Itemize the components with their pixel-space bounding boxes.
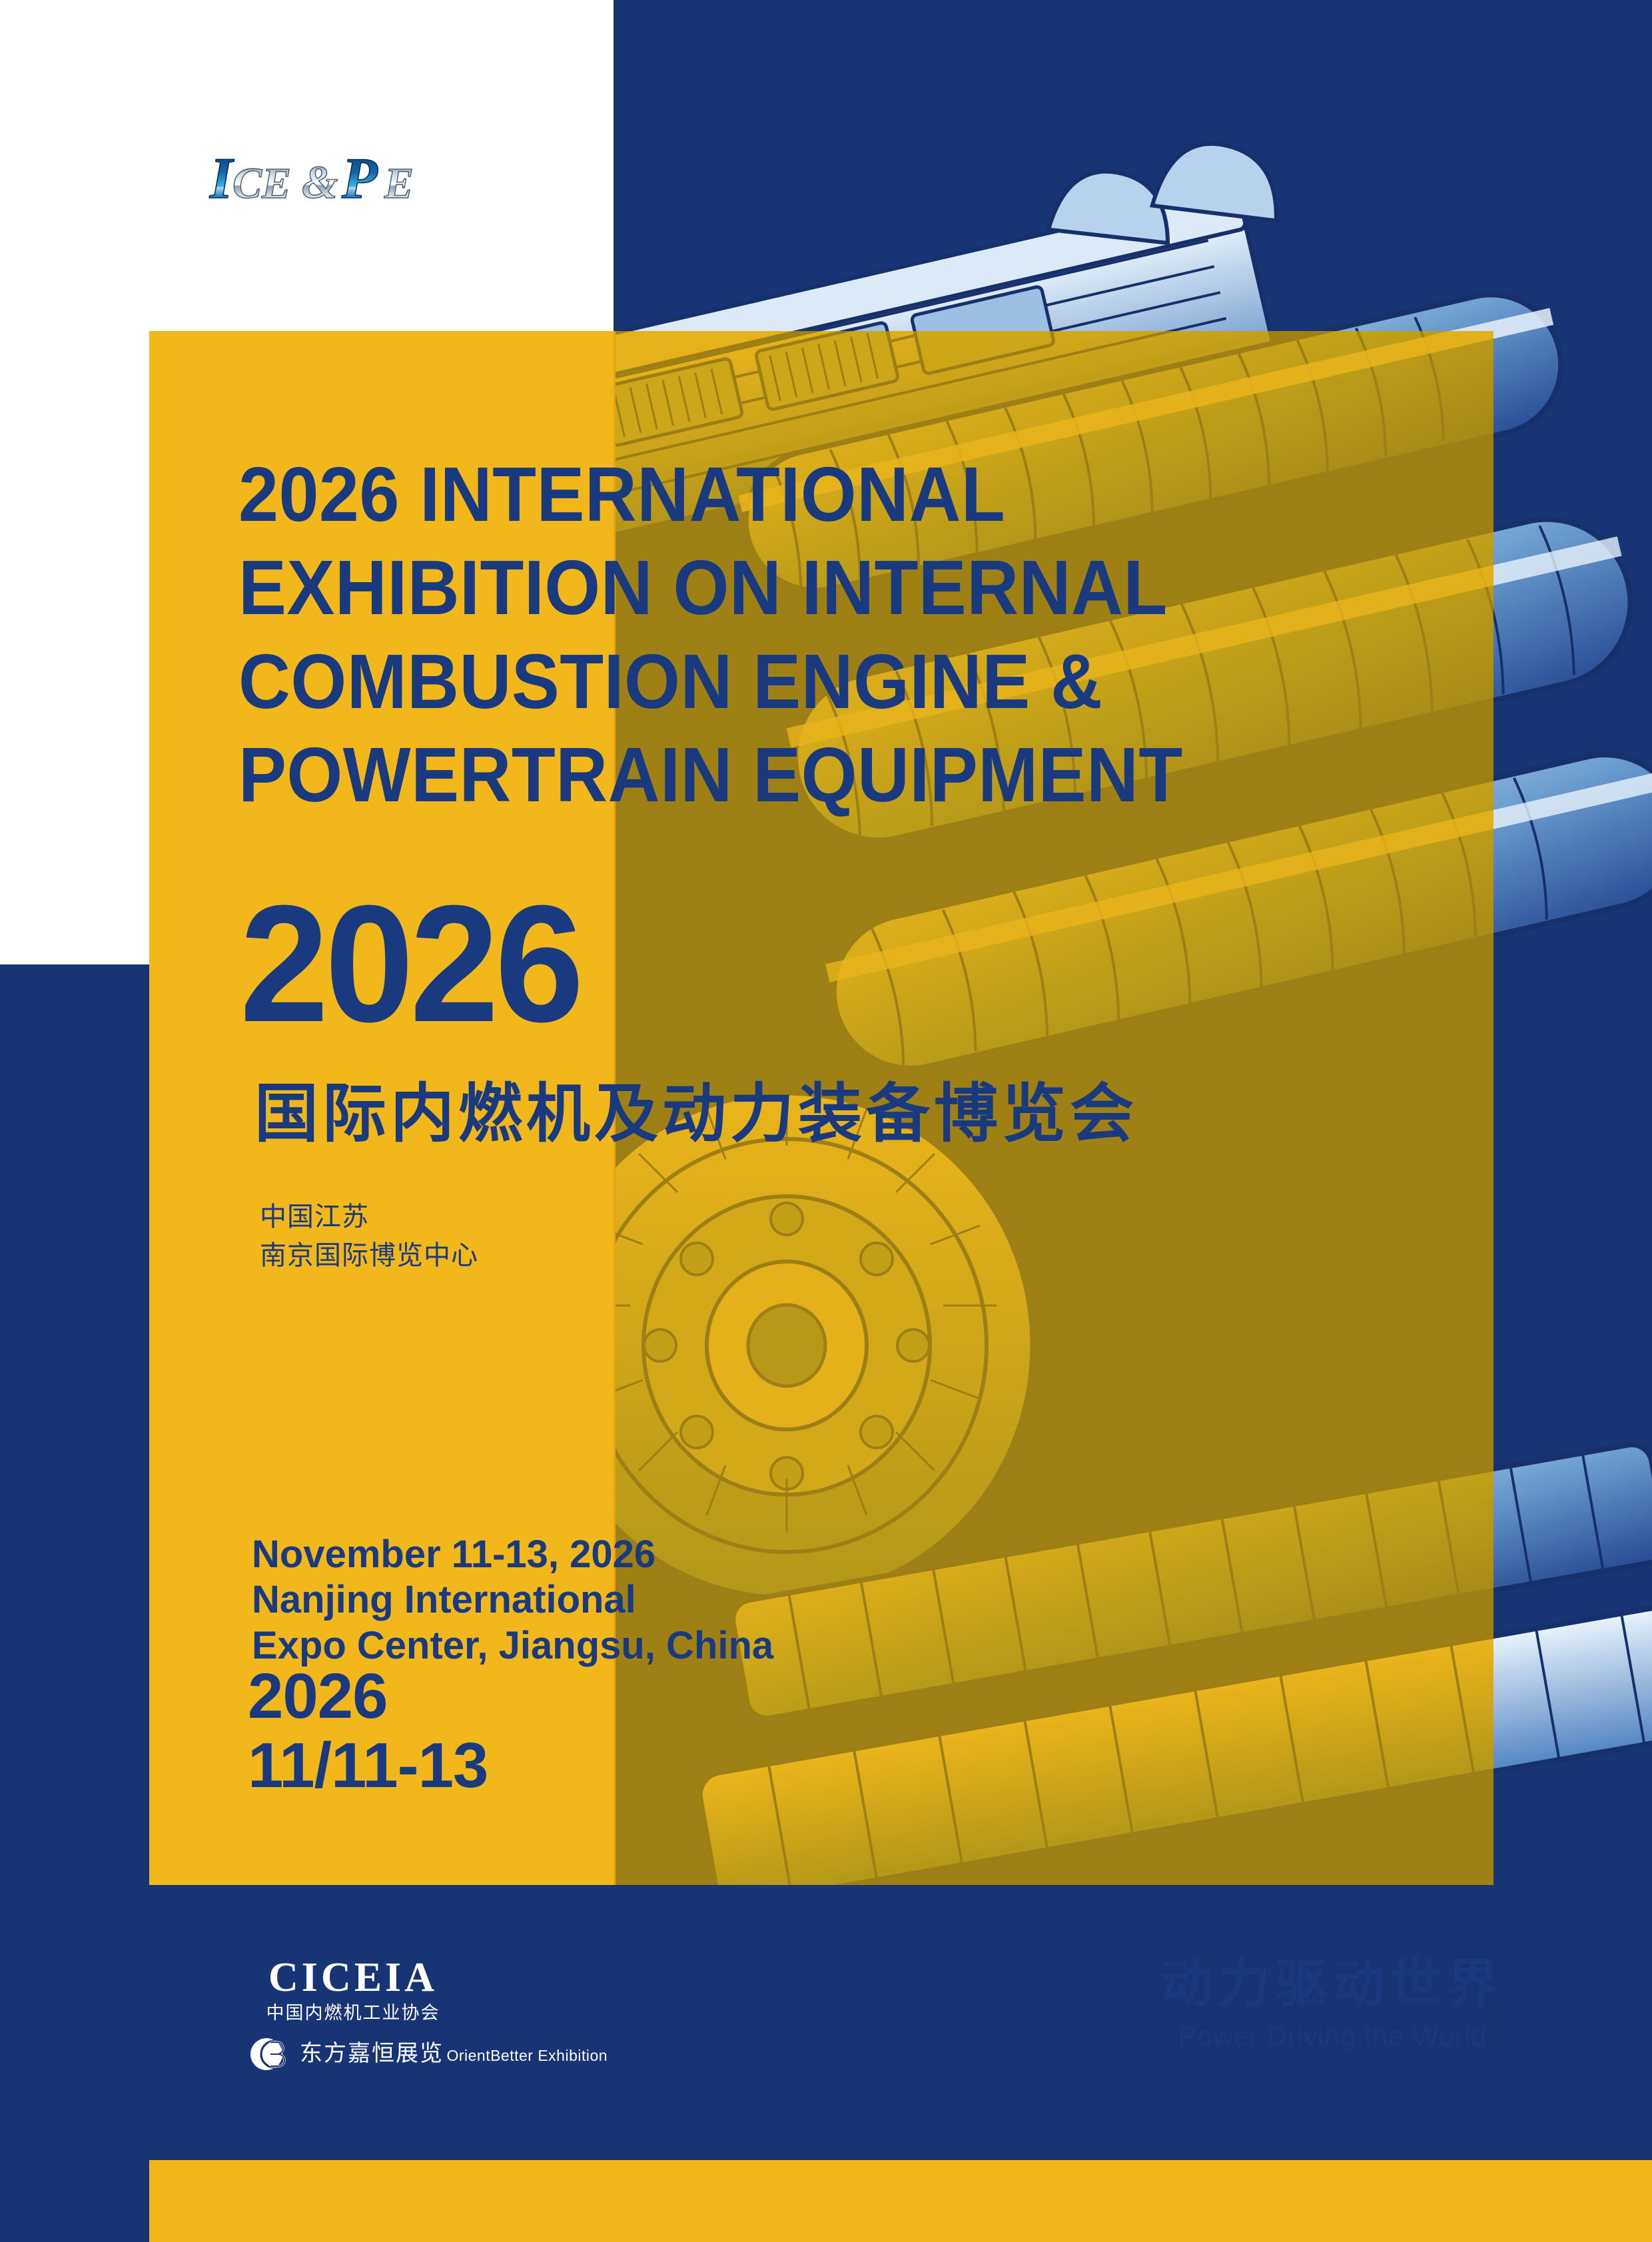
orientbetter-name-english: OrientBetter Exhibition (446, 2047, 608, 2064)
svg-text:CE: CE (232, 159, 291, 208)
date-line-2: Nanjing International (252, 1577, 773, 1623)
svg-text:&: & (302, 157, 338, 208)
poster-title: 2026 INTERNATIONAL EXHIBITION ON INTERNA… (238, 448, 1316, 821)
title-chinese: 国际内燃机及动力装备博览会 (254, 1082, 1138, 1146)
date-numeric: 2026 11/11-13 (248, 1662, 488, 1800)
venue-chinese-line-2: 南京国际博览中心 (260, 1236, 478, 1275)
date-line-1: November 11-13, 2026 (252, 1532, 773, 1577)
tagline-chinese: 动力驱动世界 (1126, 1957, 1539, 2012)
orientbetter-cb-icon (248, 2033, 290, 2075)
title-line-2: EXHIBITION ON INTERNAL (238, 541, 1316, 634)
venue-chinese: 中国江苏 南京国际博览中心 (260, 1198, 478, 1275)
yellow-footer-strip (149, 2160, 1652, 2242)
tagline: 动力驱动世界 Power Driving the World (1126, 1957, 1539, 2053)
ciceia-logo[interactable]: CICEIA 中国内燃机工业协会 (246, 1957, 460, 2024)
poster-canvas: I CE & P E 2026 INTERNATIONAL EXHIBITION… (0, 0, 1652, 2242)
ciceia-name-chinese: 中国内燃机工业协会 (246, 2004, 460, 2024)
svg-text:I: I (209, 147, 234, 211)
ice-and-pe-logo[interactable]: I CE & P E (203, 143, 470, 213)
ciceia-wordmark: CICEIA (246, 1957, 460, 1998)
date-and-venue-english: November 11-13, 2026 Nanjing Internation… (252, 1532, 773, 1669)
date-numeric-year: 2026 (248, 1662, 488, 1731)
tagline-english: Power Driving the World (1126, 2020, 1539, 2053)
svg-text:P: P (341, 147, 378, 211)
title-line-4: POWERTRAIN EQUIPMENT (238, 728, 1316, 821)
orientbetter-text: 东方嘉恒展览 OrientBetter Exhibition (300, 2042, 608, 2066)
year-headline: 2026 (240, 885, 580, 1043)
title-line-3: COMBUSTION ENGINE & (238, 635, 1316, 728)
orientbetter-logo[interactable]: 东方嘉恒展览 OrientBetter Exhibition (248, 2033, 608, 2075)
title-line-1: 2026 INTERNATIONAL (238, 448, 1316, 541)
svg-text:E: E (384, 159, 414, 208)
venue-chinese-line-1: 中国江苏 (260, 1198, 478, 1236)
date-numeric-days: 11/11-13 (248, 1731, 488, 1800)
orientbetter-name-chinese: 东方嘉恒展览 (300, 2041, 444, 2066)
